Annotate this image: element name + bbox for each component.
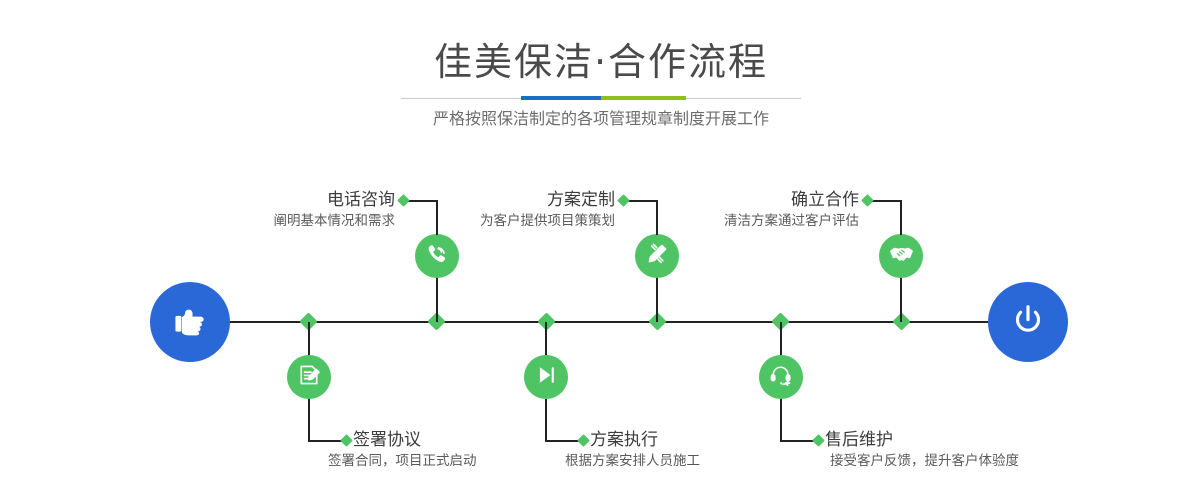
step-3-title: 方案定制 <box>395 189 615 211</box>
step-6-lead-horizontal <box>780 440 816 442</box>
step-1-label: 电话咨询 阐明基本情况和需求 <box>175 189 395 231</box>
step-4-label: 方案执行 根据方案安排人员施工 <box>590 429 850 471</box>
play-execute-icon <box>533 362 559 392</box>
step-5-title: 确立合作 <box>639 189 859 211</box>
step-4-icon-circle[interactable] <box>524 355 568 399</box>
power-icon <box>1007 299 1049 345</box>
divider-green-segment <box>601 96 686 100</box>
pointing-hand-icon <box>170 300 210 344</box>
step-4-lead-horizontal <box>545 440 581 442</box>
step-3-stem <box>656 272 658 322</box>
step-3-subtitle: 为客户提供项目策策划 <box>395 211 615 231</box>
document-sign-icon <box>296 362 322 392</box>
divider-blue-segment <box>521 96 601 100</box>
step-4-lead-vertical <box>545 399 547 441</box>
cooperation-process-infographic: 佳美保洁·合作流程 严格按照保洁制定的各项管理规章制度开展工作 <box>0 0 1202 502</box>
step-3-label: 方案定制 为客户提供项目策策划 <box>395 189 615 231</box>
step-3-label-marker <box>617 194 630 207</box>
step-6-lead-vertical <box>780 399 782 441</box>
step-2-label-marker <box>340 434 353 447</box>
page-title: 佳美保洁·合作流程 <box>0 38 1202 86</box>
timeline-start-node[interactable] <box>150 282 230 362</box>
step-2-lead-vertical <box>308 399 310 441</box>
headset-support-icon <box>768 362 794 392</box>
timeline-end-node[interactable] <box>988 282 1068 362</box>
page-subtitle: 严格按照保洁制定的各项管理规章制度开展工作 <box>0 106 1202 132</box>
step-5-label-marker <box>861 194 874 207</box>
step-5-lead-vertical <box>900 200 902 235</box>
step-4-subtitle: 根据方案安排人员施工 <box>565 451 850 471</box>
step-6-subtitle: 接受客户反馈，提升客户体验度 <box>830 451 1125 471</box>
step-5-icon-circle[interactable] <box>879 234 923 278</box>
handshake-icon <box>888 241 915 272</box>
step-2-lead-horizontal <box>308 440 344 442</box>
phone-call-icon <box>424 241 450 271</box>
step-5-label: 确立合作 清洁方案通过客户评估 <box>639 189 859 231</box>
step-5-subtitle: 清洁方案通过客户评估 <box>639 211 859 231</box>
step-1-subtitle: 阐明基本情况和需求 <box>175 211 395 231</box>
step-1-title: 电话咨询 <box>175 189 395 211</box>
step-3-icon-circle[interactable] <box>635 234 679 278</box>
title-divider <box>401 96 801 100</box>
step-6-icon-circle[interactable] <box>759 355 803 399</box>
step-6-label: 售后维护 接受客户反馈，提升客户体验度 <box>825 429 1125 471</box>
step-1-icon-circle[interactable] <box>415 234 459 278</box>
step-2-icon-circle[interactable] <box>287 355 331 399</box>
pencil-design-icon <box>644 241 670 271</box>
step-5-stem <box>900 272 902 322</box>
step-6-title: 售后维护 <box>825 429 1125 451</box>
step-1-stem <box>436 272 438 322</box>
